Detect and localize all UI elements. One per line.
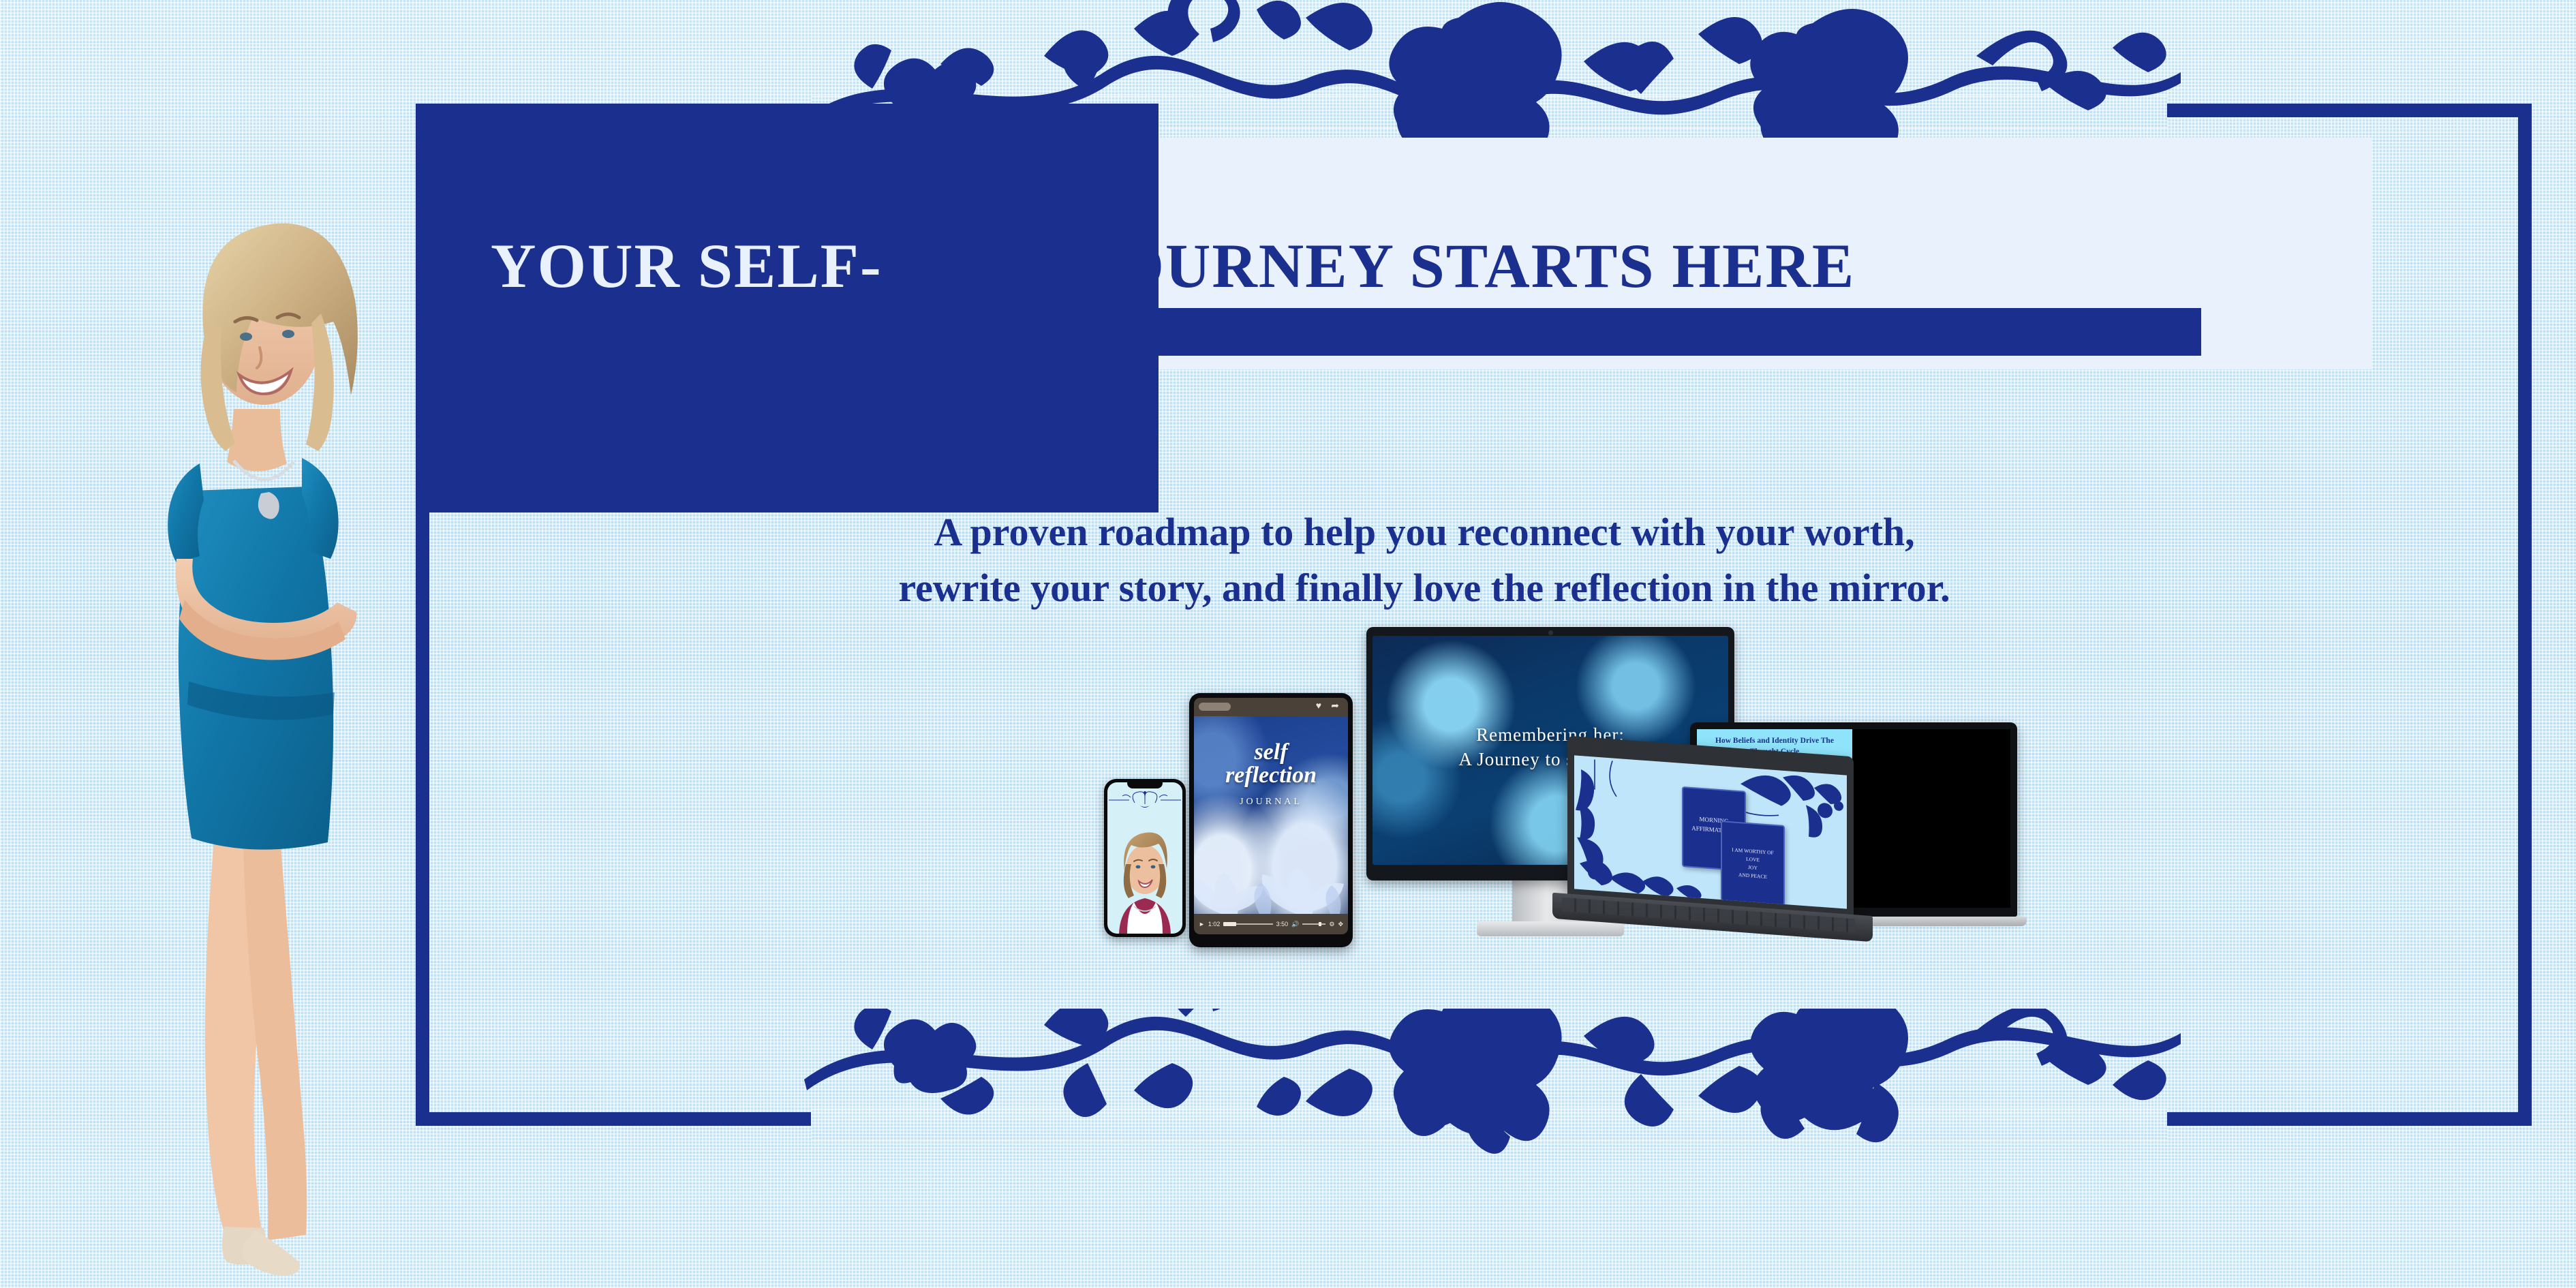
laptop-affirmations-mockup: MORNING AFFIRMATIONS I AM WORTHY OF LOVE…: [1567, 746, 1854, 951]
page-title: YOUR SELF-LOVE JOURNEY STARTS HERE: [491, 230, 2181, 302]
subtitle-block: A proven roadmap to help you reconnect w…: [436, 504, 2412, 617]
volume-icon[interactable]: 🔊: [1291, 921, 1299, 928]
duration-time: 3:50: [1276, 921, 1289, 927]
lotus-illustration-icon: [1194, 812, 1348, 914]
play-icon[interactable]: ►: [1199, 921, 1205, 927]
phone-notch: [1127, 781, 1163, 788]
frame-gap-bottom: [811, 1108, 2167, 1141]
title-blue-chevron: [416, 104, 2201, 512]
webcam-icon: [1548, 630, 1553, 635]
tablet-address-pill[interactable]: [1199, 703, 1231, 711]
tablet-journal-mockup: ♥ ➦ self reflection JOURNAL: [1189, 693, 1353, 947]
journal-subtitle: JOURNAL: [1194, 797, 1348, 808]
gear-icon[interactable]: ⚙: [1329, 921, 1334, 928]
subtitle-line-2: rewrite your story, and finally love the…: [436, 560, 2412, 616]
journal-title-word-2: reflection: [1194, 764, 1348, 787]
device-mockup-cluster: Remembering her: A Journey to self-love.…: [1104, 627, 2072, 1009]
share-icon[interactable]: ➦: [1331, 702, 1339, 711]
volume-slider[interactable]: [1302, 923, 1325, 925]
phone-ornament-icon: [1107, 789, 1182, 810]
presenter-hero-photo: [126, 109, 440, 1288]
title-dark-part: LOVE JOURNEY STARTS HERE: [883, 231, 1856, 301]
fullscreen-icon[interactable]: ✥: [1338, 921, 1343, 928]
title-banner: YOUR SELF-LOVE JOURNEY STARTS HERE: [416, 104, 2201, 512]
presenter-portrait: [1114, 822, 1176, 934]
journal-title-word-1: self: [1194, 741, 1348, 764]
smartphone-mockup: [1104, 779, 1186, 937]
elapsed-time: 1:02: [1208, 921, 1221, 927]
affirmations-slide: MORNING AFFIRMATIONS I AM WORTHY OF LOVE…: [1574, 755, 1847, 908]
subtitle-line-1: A proven roadmap to help you reconnect w…: [436, 504, 2412, 560]
title-light-part: YOUR SELF-: [491, 231, 883, 301]
affirmation-card-worthy: I AM WORTHY OF LOVE JOY AND PEACE: [1721, 821, 1785, 906]
phone-screen: [1107, 782, 1182, 934]
progress-bar[interactable]: [1223, 923, 1272, 925]
journal-title: self reflection: [1194, 741, 1348, 787]
journal-cover-screen: self reflection JOURNAL: [1194, 716, 1348, 914]
video-player-controls[interactable]: ► 1:02 3:50 🔊 ⚙ ✥: [1194, 914, 1348, 934]
heart-icon[interactable]: ♥: [1316, 702, 1321, 711]
